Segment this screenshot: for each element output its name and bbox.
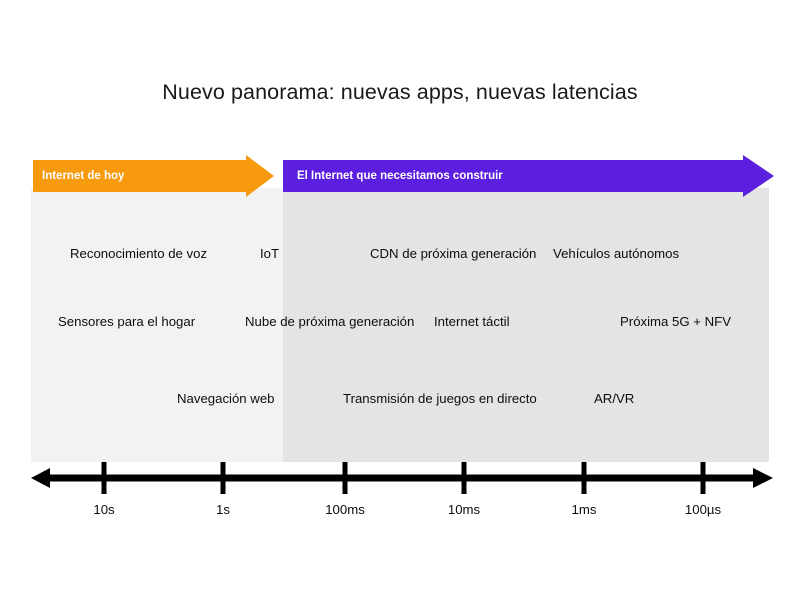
axis-tick-label: 10s [93, 502, 114, 517]
latency-axis [0, 0, 800, 600]
axis-tick-label: 100ms [325, 502, 365, 517]
axis-arrowhead-right-icon [753, 468, 773, 488]
axis-tick-label: 1s [216, 502, 230, 517]
slide-canvas: Nuevo panorama: nuevas apps, nuevas late… [0, 0, 800, 600]
axis-tick-label: 10ms [448, 502, 480, 517]
axis-tick-label: 100µs [685, 502, 721, 517]
axis-tick-label: 1ms [572, 502, 597, 517]
axis-arrowhead-left-icon [31, 468, 50, 488]
